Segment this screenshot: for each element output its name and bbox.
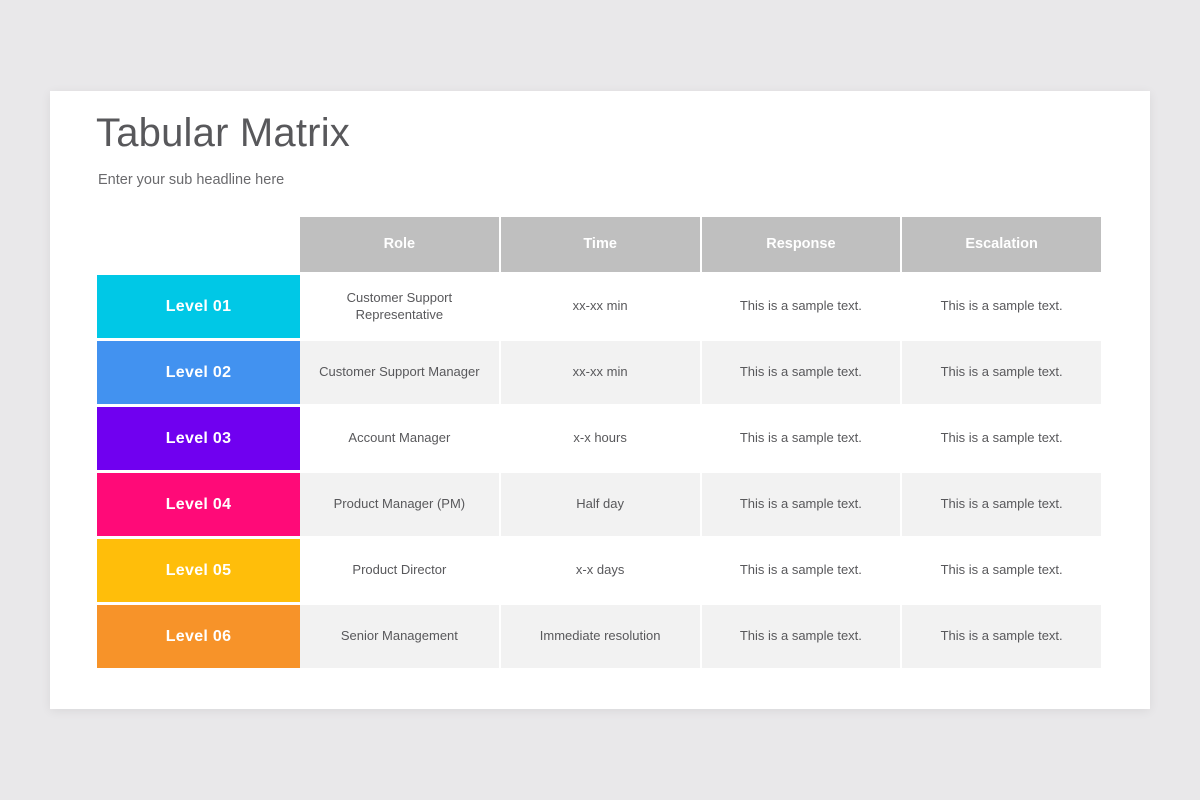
level-label: Level 06 [166,628,232,646]
cell-escalation: This is a sample text. [902,407,1101,470]
tabular-matrix: Role Time Response Escalation Level 01 C… [97,217,1101,668]
cell-escalation: This is a sample text. [902,341,1101,404]
level-badge-06[interactable]: Level 06 [97,605,300,668]
table-corner-cell [97,217,300,272]
cell-time: x-x days [501,539,702,602]
table-row[interactable]: Level 06 Senior Management Immediate res… [97,605,1101,668]
column-header-escalation[interactable]: Escalation [902,217,1101,272]
slide-card: Tabular Matrix Enter your sub headline h… [50,91,1150,709]
level-label: Level 04 [166,496,232,514]
level-badge-03[interactable]: Level 03 [97,407,300,470]
cell-time: xx-xx min [501,341,702,404]
level-label: Level 03 [166,430,232,448]
cell-response: This is a sample text. [702,473,903,536]
level-label: Level 02 [166,364,232,382]
cell-escalation: This is a sample text. [902,539,1101,602]
cell-response: This is a sample text. [702,539,903,602]
cell-time: Immediate resolution [501,605,702,668]
table-row[interactable]: Level 02 Customer Support Manager xx-xx … [97,341,1101,404]
cell-role: Customer Support Representative [300,275,501,338]
table-row[interactable]: Level 03 Account Manager x-x hours This … [97,407,1101,470]
cell-escalation: This is a sample text. [902,605,1101,668]
cell-role: Product Director [300,539,501,602]
cell-time: x-x hours [501,407,702,470]
table-row[interactable]: Level 04 Product Manager (PM) Half day T… [97,473,1101,536]
cell-response: This is a sample text. [702,341,903,404]
column-header-response[interactable]: Response [702,217,903,272]
level-label: Level 05 [166,562,232,580]
cell-escalation: This is a sample text. [902,275,1101,338]
level-badge-05[interactable]: Level 05 [97,539,300,602]
column-header-role[interactable]: Role [300,217,501,272]
table-header-row: Role Time Response Escalation [97,217,1101,272]
cell-response: This is a sample text. [702,275,903,338]
cell-role: Account Manager [300,407,501,470]
level-badge-02[interactable]: Level 02 [97,341,300,404]
level-badge-04[interactable]: Level 04 [97,473,300,536]
cell-time: xx-xx min [501,275,702,338]
table-row[interactable]: Level 05 Product Director x-x days This … [97,539,1101,602]
cell-escalation: This is a sample text. [902,473,1101,536]
cell-role: Product Manager (PM) [300,473,501,536]
level-label: Level 01 [166,298,232,316]
page-subtitle: Enter your sub headline here [98,172,284,188]
cell-response: This is a sample text. [702,605,903,668]
table-row[interactable]: Level 01 Customer Support Representative… [97,275,1101,338]
page-title: Tabular Matrix [96,111,350,156]
level-badge-01[interactable]: Level 01 [97,275,300,338]
column-header-time[interactable]: Time [501,217,702,272]
cell-role: Senior Management [300,605,501,668]
cell-time: Half day [501,473,702,536]
cell-response: This is a sample text. [702,407,903,470]
cell-role: Customer Support Manager [300,341,501,404]
